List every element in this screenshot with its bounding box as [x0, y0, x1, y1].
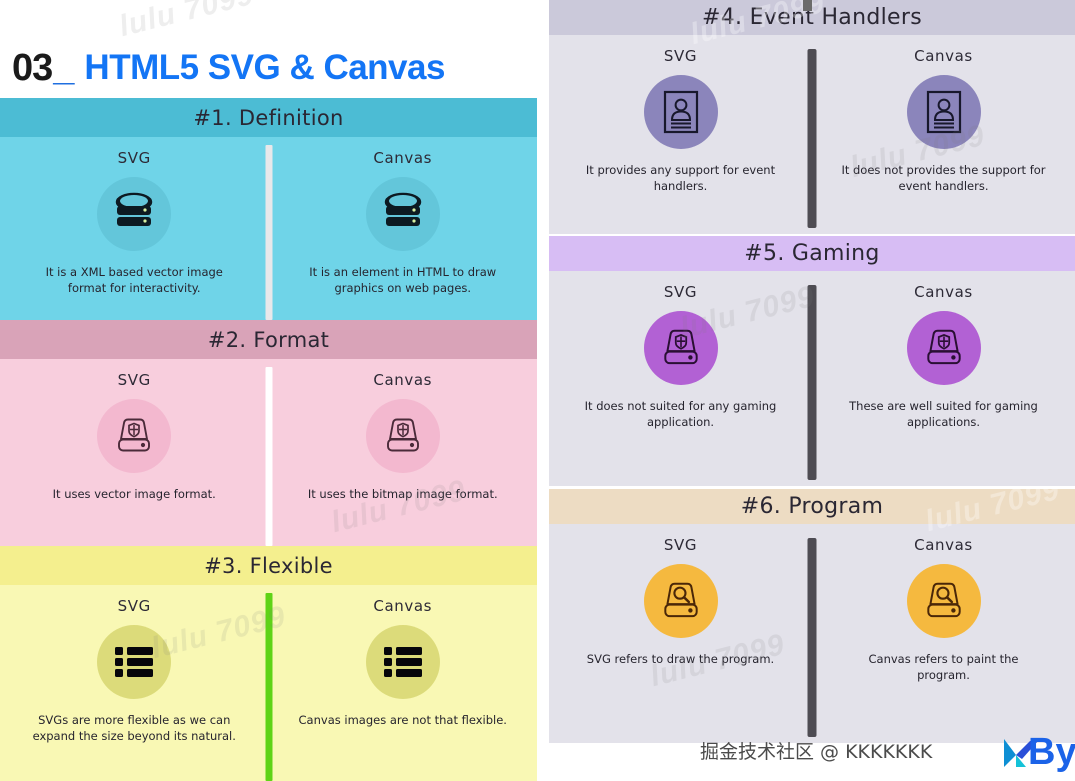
scroll-indicator[interactable]: [803, 0, 812, 11]
icon-circle: [907, 311, 981, 385]
credit-watermark: 掘金技术社区 @ KKKKKKK: [700, 737, 932, 764]
icon-circle: [907, 75, 981, 149]
database-icon: [112, 191, 156, 237]
section-gaming: #5. Gaming SVG: [549, 236, 1075, 486]
description-text: Canvas images are not that flexible.: [299, 713, 507, 729]
list-icon: [382, 645, 424, 679]
section-heading: #3. Flexible: [0, 546, 537, 585]
section-body: SVG SVGs a: [0, 585, 537, 781]
svg-column: SVG It uses vector image fo: [0, 359, 269, 546]
description-text: It does not suited for any gaming applic…: [578, 399, 783, 430]
icon-circle: [644, 311, 718, 385]
id-card-person-icon: [924, 89, 964, 135]
list-icon: [113, 645, 155, 679]
section-body: SVG It provides any support: [549, 35, 1075, 234]
slide-canvas: lulu 7099 03 _ HTML5 SVG & Canvas #1. De…: [0, 0, 1075, 781]
database-icon: [381, 191, 425, 237]
section-flexible: #3. Flexible SVG: [0, 546, 537, 781]
section-body: SVG It is: [0, 137, 537, 320]
description-text: Canvas refers to paint the program.: [841, 652, 1046, 683]
description-text: It does not provides the support for eve…: [841, 163, 1046, 194]
icon-circle: [907, 564, 981, 638]
column-title-canvas: Canvas: [373, 371, 432, 389]
canvas-column: Canvas These are well suite: [812, 271, 1075, 486]
right-column: #4. Event Handlers SVG: [549, 0, 1075, 781]
credit-text: 掘金技术社区 @ KKKKKKK: [700, 737, 932, 764]
search-device-icon: [921, 579, 967, 623]
icon-circle: [97, 399, 171, 473]
column-divider: [265, 145, 272, 320]
column-title-canvas: Canvas: [914, 47, 973, 65]
shield-device-icon: [381, 415, 425, 457]
description-text: It uses vector image format.: [53, 487, 216, 503]
slide-title-underscore: _: [53, 47, 74, 90]
left-column: lulu 7099 03 _ HTML5 SVG & Canvas #1. De…: [0, 0, 537, 781]
column-title-canvas: Canvas: [373, 149, 432, 167]
column-title-canvas: Canvas: [914, 283, 973, 301]
icon-circle: [97, 625, 171, 699]
svg-column: SVG It provides any support: [549, 35, 812, 234]
shield-device-icon: [112, 415, 156, 457]
column-divider: [265, 367, 272, 546]
svg-column: SVG SVG refers to draw the: [549, 524, 812, 743]
shield-device-icon: [921, 326, 967, 370]
description-text: SVGs are more flexible as we can expand …: [27, 713, 242, 744]
icon-circle: [366, 399, 440, 473]
section-body: SVG It does not suited for: [549, 271, 1075, 486]
slide-number: 03: [12, 47, 52, 90]
page-title: HTML5 SVG & Canvas: [84, 48, 445, 88]
section-heading: #5. Gaming: [549, 236, 1075, 271]
section-definition: #1. Definition SVG: [0, 98, 537, 320]
column-title-canvas: Canvas: [914, 536, 973, 554]
svg-column: SVG SVGs a: [0, 585, 269, 781]
icon-circle: [97, 177, 171, 251]
by-label: By: [1028, 731, 1075, 774]
shield-device-icon: [658, 326, 704, 370]
description-text: It provides any support for event handle…: [578, 163, 783, 194]
column-title-svg: SVG: [118, 597, 151, 615]
section-body: SVG It uses vector image fo: [0, 359, 537, 546]
description-text: It uses the bitmap image format.: [308, 487, 498, 503]
canvas-column: Canvas Canvas refers to pai: [812, 524, 1075, 743]
column-divider: [808, 49, 817, 228]
column-divider: [808, 285, 817, 480]
section-body: SVG SVG refers to draw the: [549, 524, 1075, 743]
canvas-column: Canvas It uses the bitmap i: [269, 359, 538, 546]
search-device-icon: [658, 579, 704, 623]
section-heading: #1. Definition: [0, 98, 537, 137]
section-heading: #6. Program: [549, 489, 1075, 524]
column-title-svg: SVG: [118, 149, 151, 167]
section-program: #6. Program SVG: [549, 489, 1075, 743]
section-heading: #2. Format: [0, 320, 537, 359]
icon-circle: [366, 177, 440, 251]
description-text: It is a XML based vector image format fo…: [27, 265, 242, 296]
section-event-handlers: #4. Event Handlers SVG: [549, 0, 1075, 234]
icon-circle: [644, 564, 718, 638]
id-card-person-icon: [661, 89, 701, 135]
description-text: These are well suited for gaming applica…: [841, 399, 1046, 430]
svg-column: SVG It does not suited for: [549, 271, 812, 486]
column-divider: [808, 538, 817, 737]
description-text: SVG refers to draw the program.: [587, 652, 774, 668]
svg-column: SVG It is: [0, 137, 269, 320]
column-title-svg: SVG: [118, 371, 151, 389]
description-text: It is an element in HTML to draw graphic…: [295, 265, 510, 296]
column-title-svg: SVG: [664, 283, 697, 301]
section-format: #2. Format SVG: [0, 320, 537, 546]
column-title-svg: SVG: [664, 536, 697, 554]
icon-circle: [644, 75, 718, 149]
column-divider: [265, 593, 272, 781]
column-title-canvas: Canvas: [373, 597, 432, 615]
section-heading: #4. Event Handlers: [549, 0, 1075, 35]
canvas-column: Canvas It does not provides: [812, 35, 1075, 234]
slide-title-row: 03 _ HTML5 SVG & Canvas: [0, 38, 537, 98]
canvas-column: Canvas It: [269, 137, 538, 320]
column-title-svg: SVG: [664, 47, 697, 65]
icon-circle: [366, 625, 440, 699]
canvas-column: Canvas Can: [269, 585, 538, 781]
